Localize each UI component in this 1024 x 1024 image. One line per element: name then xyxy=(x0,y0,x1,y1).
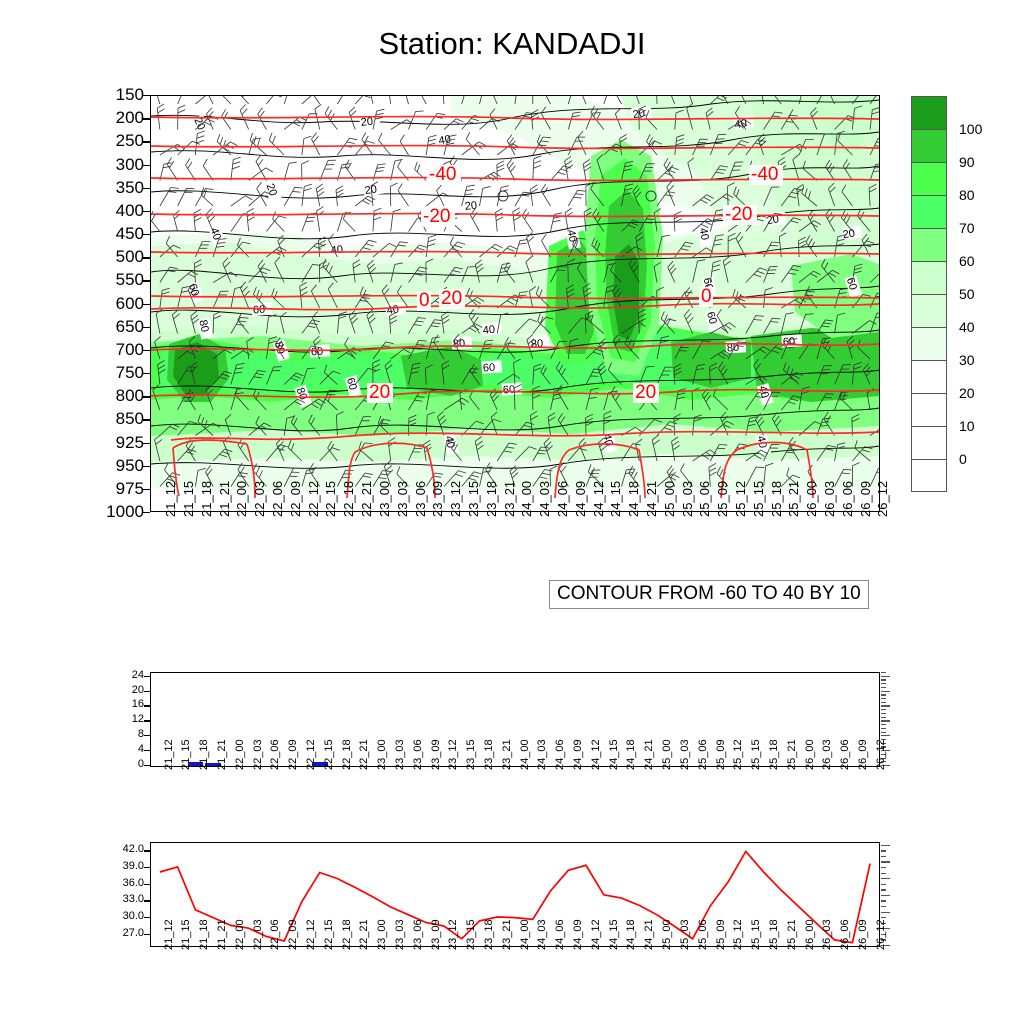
time-tick-label: 23_12 xyxy=(447,919,459,950)
time-tick-label: 24_09 xyxy=(572,919,584,950)
time-tick-label: 24_12 xyxy=(590,919,602,950)
time-tick-label: 26_00 xyxy=(804,739,816,770)
pressure-tick-mark xyxy=(143,512,150,513)
colorbar-cell[interactable] xyxy=(911,261,947,294)
time-tick-label: 25_00 xyxy=(661,919,673,950)
colorbar-cell[interactable] xyxy=(911,360,947,393)
rain-tick-mark xyxy=(144,720,150,721)
time-tick-label: 26_03 xyxy=(822,481,837,517)
time-tick-label: 24_18 xyxy=(626,481,641,517)
time-tick-label: 22_09 xyxy=(288,481,303,517)
svg-text:40: 40 xyxy=(330,244,343,257)
time-tick-label: 25_15 xyxy=(750,919,762,950)
time-tick-label: 22_21 xyxy=(358,919,370,950)
colorbar-label: 0 xyxy=(959,452,967,466)
pressure-tick-label: 450 xyxy=(84,225,144,242)
pressure-tick-mark xyxy=(143,396,150,397)
temp-minor-tick xyxy=(881,856,886,857)
svg-text:60: 60 xyxy=(252,304,265,317)
time-tick-label: 26_00 xyxy=(804,919,816,950)
time-tick-label: 25_03 xyxy=(680,481,695,517)
pressure-tick-label: 975 xyxy=(84,480,144,497)
time-tick-label: 22_15 xyxy=(323,919,335,950)
pressure-tick-mark xyxy=(143,234,150,235)
time-tick-label: 24_15 xyxy=(608,739,620,770)
temp-minor-tick xyxy=(881,878,890,879)
pressure-tick-mark xyxy=(143,257,150,258)
rain-tick-mark xyxy=(144,676,150,677)
time-tick-label: 23_18 xyxy=(484,481,499,517)
time-tick-label: 22_00 xyxy=(234,739,246,770)
pressure-tick-mark xyxy=(143,443,150,444)
svg-text:40: 40 xyxy=(697,227,711,241)
pressure-tick-mark xyxy=(143,141,150,142)
time-tick-label: 22_00 xyxy=(234,481,249,517)
time-tick-label: 21_12 xyxy=(163,739,175,770)
time-tick-label: 24_15 xyxy=(608,481,623,517)
svg-text:60: 60 xyxy=(482,362,495,375)
temp-tick-mark xyxy=(144,867,150,868)
colorbar-label: 20 xyxy=(959,386,975,400)
pressure-tick-mark xyxy=(143,489,150,490)
time-tick-label: 26_03 xyxy=(821,739,833,770)
time-tick-label: 25_06 xyxy=(697,481,712,517)
colorbar-cell[interactable] xyxy=(911,294,947,327)
time-tick-label: 21_18 xyxy=(198,919,210,950)
svg-text:60: 60 xyxy=(502,384,515,397)
rain-tick-label: 0 xyxy=(104,759,144,770)
pressure-tick-mark xyxy=(143,188,150,189)
time-tick-label: 25_18 xyxy=(768,739,780,770)
time-tick-label: 23_12 xyxy=(447,739,459,770)
time-tick-label: 21_18 xyxy=(198,739,210,770)
time-tick-label: 21_18 xyxy=(199,481,214,517)
rain-tick-label: 20 xyxy=(104,685,144,696)
rain-minor-tick xyxy=(881,732,886,733)
rain-tick-mark xyxy=(144,765,150,766)
temp-tick-label: 36.0 xyxy=(98,878,144,889)
time-tick-label: 25_06 xyxy=(697,739,709,770)
time-tick-label: 23_06 xyxy=(412,739,424,770)
rain-tick-mark xyxy=(144,750,150,751)
colorbar-label: 100 xyxy=(959,122,982,136)
pressure-tick-mark xyxy=(143,118,150,119)
temp-tick-label: 30.0 xyxy=(98,911,144,922)
temp-minor-tick xyxy=(881,845,890,846)
colorbar[interactable] xyxy=(911,96,947,492)
time-tick-label: 25_12 xyxy=(732,739,744,770)
rain-tick-label: 4 xyxy=(104,744,144,755)
svg-text:-20: -20 xyxy=(725,204,752,225)
time-tick-label: 24_00 xyxy=(519,919,531,950)
temp-tick-mark xyxy=(144,934,150,935)
colorbar-label: 60 xyxy=(959,254,975,268)
temp-tick-label: 33.0 xyxy=(98,894,144,905)
time-tick-label: 25_12 xyxy=(732,919,744,950)
rain-minor-tick xyxy=(881,698,886,699)
time-tick-label: 24_21 xyxy=(644,481,659,517)
rain-minor-tick xyxy=(881,705,890,706)
time-tick-label: 22_18 xyxy=(341,739,353,770)
temp-minor-tick xyxy=(881,861,890,862)
pressure-tick-label: 500 xyxy=(84,248,144,265)
time-tick-label: 24_00 xyxy=(519,481,534,517)
page-title: Station: KANDADJI xyxy=(0,26,1024,62)
time-tick-label: 23_21 xyxy=(501,919,513,950)
rain-minor-tick xyxy=(881,728,886,729)
time-tick-label: 22_18 xyxy=(341,481,356,517)
time-tick-label: 25_00 xyxy=(661,739,673,770)
temp-minor-tick xyxy=(881,906,886,907)
time-tick-label: 23_18 xyxy=(483,919,495,950)
colorbar-cell[interactable] xyxy=(911,228,947,261)
rain-tick-label: 16 xyxy=(104,699,144,710)
pressure-tick-mark xyxy=(143,373,150,374)
svg-text:-40: -40 xyxy=(751,164,778,185)
pressure-tick-label: 600 xyxy=(84,295,144,312)
time-tick-label: 26_06 xyxy=(840,481,855,517)
time-tick-label: 22_06 xyxy=(270,481,285,517)
time-tick-label: 24_18 xyxy=(625,739,637,770)
time-tick-label: 23_12 xyxy=(448,481,463,517)
temp-minor-tick xyxy=(881,850,886,851)
rain-tick-mark xyxy=(144,735,150,736)
colorbar-label: 10 xyxy=(959,419,975,433)
time-tick-label: 21_15 xyxy=(181,481,196,517)
svg-text:20: 20 xyxy=(441,288,462,309)
cross-section-plot-area[interactable]: 20 20 20 40 40 20 20 20 40 40 40 40 20 2… xyxy=(150,95,880,512)
time-tick-label: 22_21 xyxy=(358,739,370,770)
time-tick-label: 23_09 xyxy=(430,919,442,950)
pressure-tick-mark xyxy=(143,280,150,281)
time-tick-label: 23_09 xyxy=(430,481,445,517)
time-tick-label: 22_15 xyxy=(323,481,338,517)
time-tick-label: 23_15 xyxy=(465,739,477,770)
time-tick-label: 23_15 xyxy=(465,919,477,950)
time-tick-label: 25_21 xyxy=(786,481,801,517)
time-tick-label: 26_12 xyxy=(875,481,890,517)
pressure-tick-label: 150 xyxy=(84,86,144,103)
time-tick-label: 24_09 xyxy=(572,739,584,770)
pressure-tick-label: 800 xyxy=(84,387,144,404)
pressure-tick-label: 750 xyxy=(84,364,144,381)
time-tick-label: 26_06 xyxy=(839,739,851,770)
time-tick-label: 23_00 xyxy=(377,481,392,517)
temp-tick-label: 27.0 xyxy=(98,928,144,939)
time-tick-label: 22_03 xyxy=(252,919,264,950)
time-tick-label: 24_03 xyxy=(536,919,548,950)
svg-text:40: 40 xyxy=(482,324,495,337)
time-tick-label: 24_03 xyxy=(536,739,548,770)
svg-text:0: 0 xyxy=(419,290,430,311)
rain-minor-tick xyxy=(881,720,890,721)
colorbar-cell[interactable] xyxy=(911,195,947,228)
cross-section-svg: 20 20 20 40 40 20 20 20 40 40 40 40 20 2… xyxy=(151,96,879,511)
cross-section-x-labels: 21_1221_1521_1821_2122_0022_0322_0622_09… xyxy=(150,517,880,579)
colorbar-cell[interactable] xyxy=(911,129,947,162)
time-tick-label: 24_12 xyxy=(590,739,602,770)
pressure-tick-mark xyxy=(143,304,150,305)
pressure-tick-label: 650 xyxy=(84,318,144,335)
time-tick-label: 23_06 xyxy=(412,919,424,950)
time-tick-label: 24_06 xyxy=(554,919,566,950)
time-tick-label: 26_06 xyxy=(839,919,851,950)
time-tick-label: 21_21 xyxy=(216,739,228,770)
pressure-tick-mark xyxy=(143,165,150,166)
time-tick-label: 24_21 xyxy=(643,919,655,950)
svg-text:20: 20 xyxy=(464,200,477,213)
temp-minor-tick xyxy=(881,889,886,890)
temp-minor-tick xyxy=(881,873,886,874)
time-tick-label: 24_06 xyxy=(555,481,570,517)
time-tick-label: 25_09 xyxy=(715,919,727,950)
time-tick-label: 21_15 xyxy=(180,919,192,950)
pressure-tick-mark xyxy=(143,95,150,96)
pressure-tick-label: 950 xyxy=(84,457,144,474)
time-tick-label: 26_00 xyxy=(804,481,819,517)
svg-text:-40: -40 xyxy=(429,164,456,185)
time-tick-label: 22_03 xyxy=(252,739,264,770)
temp-line xyxy=(160,851,870,942)
time-tick-label: 21_12 xyxy=(163,481,178,517)
time-tick-label: 21_21 xyxy=(216,919,228,950)
rain-minor-tick xyxy=(881,683,886,684)
temp-minor-tick xyxy=(881,917,886,918)
pressure-tick-label: 400 xyxy=(84,202,144,219)
time-tick-label: 23_03 xyxy=(394,919,406,950)
temp-tick-mark xyxy=(144,850,150,851)
svg-text:40: 40 xyxy=(386,303,400,317)
time-tick-label: 25_21 xyxy=(786,919,798,950)
time-tick-label: 22_00 xyxy=(234,919,246,950)
time-tick-label: 23_03 xyxy=(394,739,406,770)
contour-note: CONTOUR FROM -60 TO 40 BY 10 xyxy=(549,580,869,609)
time-tick-label: 22_18 xyxy=(341,919,353,950)
temp-tick-label: 39.0 xyxy=(98,861,144,872)
time-tick-label: 23_00 xyxy=(376,739,388,770)
pressure-tick-mark xyxy=(143,211,150,212)
time-tick-label: 25_09 xyxy=(715,481,730,517)
temp-tick-mark xyxy=(144,900,150,901)
rain-minor-tick xyxy=(881,676,890,677)
time-tick-label: 25_09 xyxy=(715,739,727,770)
time-tick-label: 26_09 xyxy=(857,919,869,950)
time-tick-label: 25_03 xyxy=(679,919,691,950)
rain-minor-tick xyxy=(881,694,886,695)
rain-x-labels: 21_1221_1521_1821_2122_0022_0322_0622_09… xyxy=(150,770,880,828)
temp-tick-mark xyxy=(144,884,150,885)
pressure-tick-label: 1000 xyxy=(84,503,144,520)
colorbar-cell[interactable] xyxy=(911,327,947,360)
cross-section-panel[interactable]: 20 20 20 40 40 20 20 20 40 40 40 40 20 2… xyxy=(150,95,880,512)
time-tick-label: 21_21 xyxy=(217,481,232,517)
temp-minor-tick xyxy=(881,867,886,868)
rain-minor-tick xyxy=(881,724,886,725)
colorbar-cell[interactable] xyxy=(911,393,947,426)
time-tick-label: 24_12 xyxy=(591,481,606,517)
time-tick-label: 22_03 xyxy=(252,481,267,517)
rain-minor-tick xyxy=(881,687,886,688)
rain-tick-label: 8 xyxy=(104,729,144,740)
pressure-tick-mark xyxy=(143,419,150,420)
time-tick-label: 25_21 xyxy=(786,739,798,770)
rain-minor-tick xyxy=(881,672,886,673)
time-tick-label: 25_00 xyxy=(662,481,677,517)
time-tick-label: 26_12 xyxy=(875,919,887,950)
temp-tick-label: 42.0 xyxy=(98,844,144,855)
pressure-tick-mark xyxy=(143,466,150,467)
pressure-tick-label: 350 xyxy=(84,179,144,196)
time-tick-label: 23_15 xyxy=(466,481,481,517)
time-tick-label: 23_21 xyxy=(501,739,513,770)
pressure-tick-label: 925 xyxy=(84,434,144,451)
svg-text:20: 20 xyxy=(635,382,656,403)
svg-text:0: 0 xyxy=(701,286,712,307)
colorbar-label: 40 xyxy=(959,320,975,334)
time-tick-label: 22_09 xyxy=(287,739,299,770)
colorbar-label: 80 xyxy=(959,188,975,202)
time-tick-label: 21_15 xyxy=(180,739,192,770)
time-tick-label: 23_06 xyxy=(413,481,428,517)
svg-text:-20: -20 xyxy=(423,206,450,227)
temp-minor-tick xyxy=(881,912,890,913)
pressure-tick-label: 850 xyxy=(84,410,144,427)
time-tick-label: 23_18 xyxy=(483,739,495,770)
temp-minor-tick xyxy=(881,895,890,896)
pressure-tick-label: 300 xyxy=(84,156,144,173)
time-tick-label: 24_15 xyxy=(608,919,620,950)
time-tick-label: 25_12 xyxy=(733,481,748,517)
colorbar-cell[interactable] xyxy=(911,162,947,195)
colorbar-label: 70 xyxy=(959,221,975,235)
time-tick-label: 26_09 xyxy=(857,739,869,770)
time-tick-label: 22_15 xyxy=(323,739,335,770)
time-tick-label: 24_06 xyxy=(554,739,566,770)
time-tick-label: 22_12 xyxy=(305,919,317,950)
rain-tick-label: 24 xyxy=(104,670,144,681)
time-tick-label: 25_15 xyxy=(750,739,762,770)
time-tick-label: 24_00 xyxy=(519,739,531,770)
pressure-tick-label: 200 xyxy=(84,109,144,126)
pressure-tick-label: 550 xyxy=(84,271,144,288)
colorbar-label: 30 xyxy=(959,353,975,367)
colorbar-label: 50 xyxy=(959,287,975,301)
time-tick-label: 24_18 xyxy=(625,919,637,950)
rain-minor-tick xyxy=(881,709,886,710)
time-tick-label: 23_00 xyxy=(376,919,388,950)
rain-minor-tick xyxy=(881,717,886,718)
temp-minor-tick xyxy=(881,900,886,901)
rain-minor-tick xyxy=(881,713,886,714)
temp-minor-tick xyxy=(881,884,886,885)
rain-tick-label: 12 xyxy=(104,714,144,725)
time-tick-label: 21_12 xyxy=(163,919,175,950)
temp-x-labels: 21_1221_1521_1821_2122_0022_0322_0622_09… xyxy=(150,950,880,1008)
pressure-tick-mark xyxy=(143,350,150,351)
time-tick-label: 22_12 xyxy=(306,481,321,517)
time-tick-label: 24_21 xyxy=(643,739,655,770)
time-tick-label: 23_09 xyxy=(430,739,442,770)
time-tick-label: 23_03 xyxy=(395,481,410,517)
time-tick-label: 26_09 xyxy=(858,481,873,517)
time-tick-label: 22_06 xyxy=(269,739,281,770)
time-tick-label: 22_09 xyxy=(287,919,299,950)
time-tick-label: 24_03 xyxy=(537,481,552,517)
colorbar-cell[interactable] xyxy=(911,426,947,459)
time-tick-label: 24_09 xyxy=(573,481,588,517)
time-tick-label: 25_15 xyxy=(751,481,766,517)
rain-tick-mark xyxy=(144,705,150,706)
colorbar-label: 90 xyxy=(959,155,975,169)
time-tick-label: 22_06 xyxy=(269,919,281,950)
colorbar-cell[interactable] xyxy=(911,96,947,129)
rain-tick-mark xyxy=(144,691,150,692)
time-tick-label: 25_18 xyxy=(768,919,780,950)
time-tick-label: 26_12 xyxy=(875,739,887,770)
colorbar-cell[interactable] xyxy=(911,459,947,492)
svg-text:80: 80 xyxy=(196,319,210,333)
rain-minor-tick xyxy=(881,679,886,680)
time-tick-label: 26_03 xyxy=(821,919,833,950)
time-tick-label: 22_12 xyxy=(305,739,317,770)
svg-text:20: 20 xyxy=(369,382,390,403)
svg-text:20: 20 xyxy=(364,183,378,197)
time-tick-label: 25_03 xyxy=(679,739,691,770)
svg-text:80: 80 xyxy=(530,338,543,351)
time-tick-label: 23_21 xyxy=(502,481,517,517)
pressure-tick-label: 250 xyxy=(84,132,144,149)
time-tick-label: 25_18 xyxy=(769,481,784,517)
rain-minor-tick xyxy=(881,691,890,692)
pressure-tick-label: 700 xyxy=(84,341,144,358)
rain-minor-tick xyxy=(881,702,886,703)
pressure-tick-mark xyxy=(143,327,150,328)
rain-minor-tick xyxy=(881,735,890,736)
time-tick-label: 25_06 xyxy=(697,919,709,950)
time-tick-label: 22_21 xyxy=(359,481,374,517)
svg-text:60: 60 xyxy=(782,336,795,349)
temp-tick-mark xyxy=(144,917,150,918)
